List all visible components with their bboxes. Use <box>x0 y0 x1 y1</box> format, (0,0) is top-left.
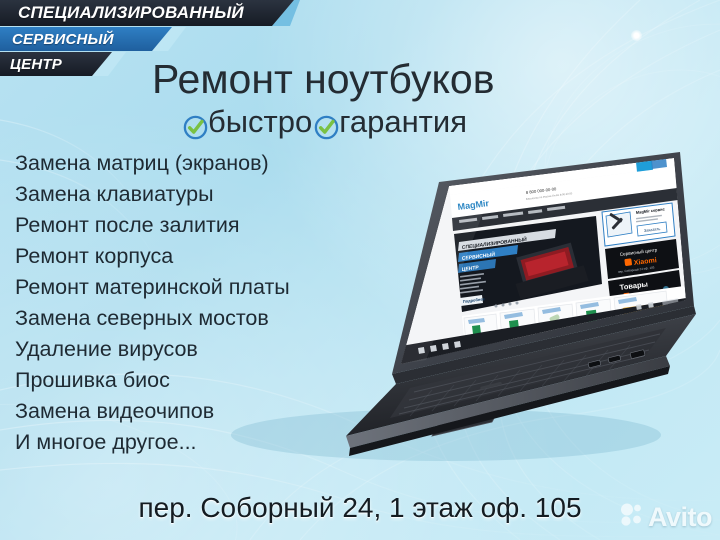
avito-wordmark: Avito <box>648 502 712 533</box>
light-spot-decoration <box>631 30 642 41</box>
list-item: Удаление вирусов <box>15 334 345 365</box>
benefits-row: быстро гарантия <box>183 104 469 140</box>
list-item: Замена клавиатуры <box>15 179 345 210</box>
check-circle-icon <box>183 112 208 137</box>
advertisement-poster: СПЕЦИАЛИЗИРОВАННЫЙ СЕРВИСНЫЙ ЦЕНТР Ремон… <box>0 0 720 540</box>
list-item: Прошивка биос <box>15 365 345 396</box>
list-item: Ремонт после залития <box>15 210 345 241</box>
benefit-label-warranty: гарантия <box>339 104 469 140</box>
avito-watermark: Avito <box>619 500 712 534</box>
check-circle-icon <box>314 112 339 137</box>
services-list-items: Замена матриц (экранов) Замена клавиатур… <box>15 148 345 458</box>
benefit-label-fast: быстро <box>208 104 314 140</box>
list-item: И многое другое... <box>15 427 345 458</box>
address-line: пер. Соборный 24, 1 этаж оф. 105 <box>0 492 720 524</box>
ribbon-center-label: ЦЕНТР <box>10 56 62 73</box>
ribbon-service: СЕРВИСНЫЙ <box>0 27 184 51</box>
page-title: Ремонт ноутбуков <box>152 56 622 103</box>
list-item: Замена матриц (экранов) <box>15 148 345 179</box>
services-list: Замена матриц (экранов) Замена клавиатур… <box>15 148 345 458</box>
ribbon-specialized: СПЕЦИАЛИЗИРОВАННЫЙ <box>0 0 312 26</box>
avito-logo-icon <box>619 502 645 533</box>
ribbon-specialized-label: СПЕЦИАЛИЗИРОВАННЫЙ <box>18 3 244 23</box>
ribbon-center: ЦЕНТР <box>0 52 122 76</box>
list-item: Замена северных мостов <box>15 303 345 334</box>
list-item: Ремонт корпуса <box>15 241 345 272</box>
list-item: Ремонт материнской платы <box>15 272 345 303</box>
list-item: Замена видеочипов <box>15 396 345 427</box>
ribbon-service-label: СЕРВИСНЫЙ <box>12 31 114 48</box>
